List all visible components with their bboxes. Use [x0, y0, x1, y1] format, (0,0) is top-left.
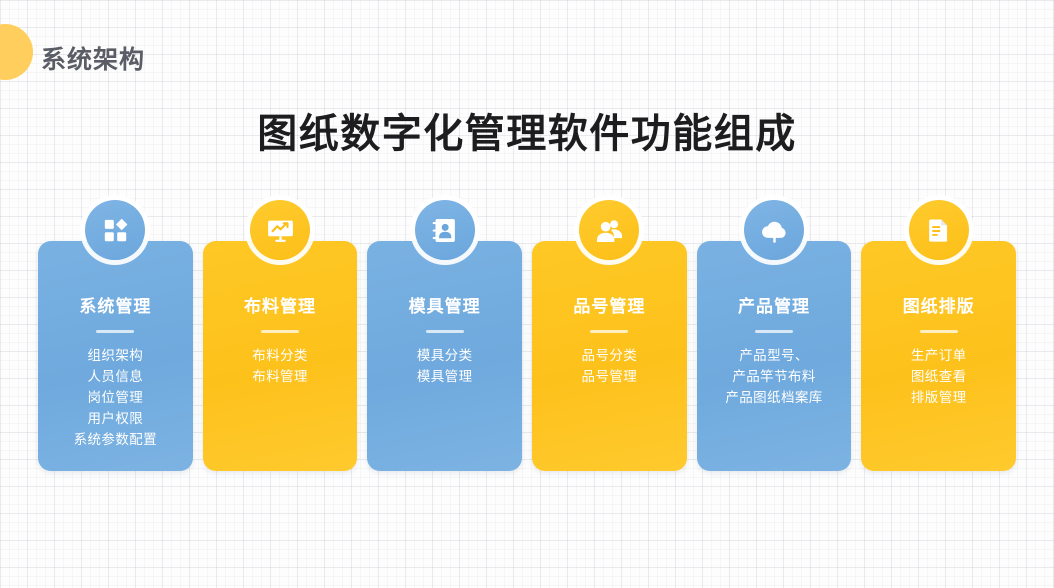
feature-card-title: 图纸排版 [861, 297, 1016, 317]
feature-card-item: 人员信息 [38, 366, 193, 387]
accent-circle-decoration [0, 24, 33, 80]
feature-card-title: 模具管理 [367, 297, 522, 317]
feature-card[interactable]: 品号管理品号分类品号管理 [532, 241, 687, 471]
feature-card[interactable]: 产品管理产品型号、产品竿节布料产品图纸档案库 [697, 241, 852, 471]
feature-card-item: 图纸查看 [861, 366, 1016, 387]
feature-card-title: 布料管理 [203, 297, 358, 317]
feature-card-item-list: 生产订单图纸查看排版管理 [861, 345, 1016, 408]
feature-card-divider [426, 330, 464, 333]
page-title: 图纸数字化管理软件功能组成 [0, 101, 1054, 159]
section-eyebrow-label: 系统架构 [41, 40, 145, 76]
feature-card-item-list: 品号分类品号管理 [532, 345, 687, 387]
feature-card-divider [96, 330, 134, 333]
feature-card-item: 品号分类 [532, 345, 687, 366]
feature-card-item: 生产订单 [861, 345, 1016, 366]
feature-card-divider [920, 330, 958, 333]
feature-card-item: 产品型号、 [697, 345, 852, 366]
feature-card-item: 系统参数配置 [38, 429, 193, 450]
feature-card-item: 布料分类 [203, 345, 358, 366]
slide-canvas: 系统架构 图纸数字化管理软件功能组成 系统管理组织架构人员信息岗位管理用户权限系… [0, 0, 1054, 588]
feature-card-item: 布料管理 [203, 366, 358, 387]
feature-card-row: 系统管理组织架构人员信息岗位管理用户权限系统参数配置布料管理布料分类布料管理模具… [38, 241, 1016, 471]
feature-card[interactable]: 图纸排版生产订单图纸查看排版管理 [861, 241, 1016, 471]
feature-card-item: 产品竿节布料 [697, 366, 852, 387]
monitor-chart-icon [250, 200, 310, 260]
contact-card-icon [415, 200, 475, 260]
feature-card-item: 排版管理 [861, 387, 1016, 408]
cloud-upload-icon [744, 200, 804, 260]
feature-card-item-list: 组织架构人员信息岗位管理用户权限系统参数配置 [38, 345, 193, 450]
feature-card-item: 组织架构 [38, 345, 193, 366]
feature-card-item-list: 产品型号、产品竿节布料产品图纸档案库 [697, 345, 852, 408]
feature-card-title: 品号管理 [532, 297, 687, 317]
feature-card-divider [755, 330, 793, 333]
feature-card-title: 系统管理 [38, 297, 193, 317]
feature-card-divider [261, 330, 299, 333]
feature-card-title: 产品管理 [697, 297, 852, 317]
feature-card-item-list: 布料分类布料管理 [203, 345, 358, 387]
feature-card[interactable]: 布料管理布料分类布料管理 [203, 241, 358, 471]
feature-card-item-list: 模具分类模具管理 [367, 345, 522, 387]
feature-card-item: 品号管理 [532, 366, 687, 387]
feature-card[interactable]: 模具管理模具分类模具管理 [367, 241, 522, 471]
users-group-icon [579, 200, 639, 260]
feature-card[interactable]: 系统管理组织架构人员信息岗位管理用户权限系统参数配置 [38, 241, 193, 471]
feature-card-item: 岗位管理 [38, 387, 193, 408]
feature-card-item: 用户权限 [38, 408, 193, 429]
feature-card-item: 模具分类 [367, 345, 522, 366]
feature-card-divider [590, 330, 628, 333]
feature-card-item: 模具管理 [367, 366, 522, 387]
feature-card-item: 产品图纸档案库 [697, 387, 852, 408]
dashboard-grid-icon [85, 200, 145, 260]
document-book-icon [909, 200, 969, 260]
